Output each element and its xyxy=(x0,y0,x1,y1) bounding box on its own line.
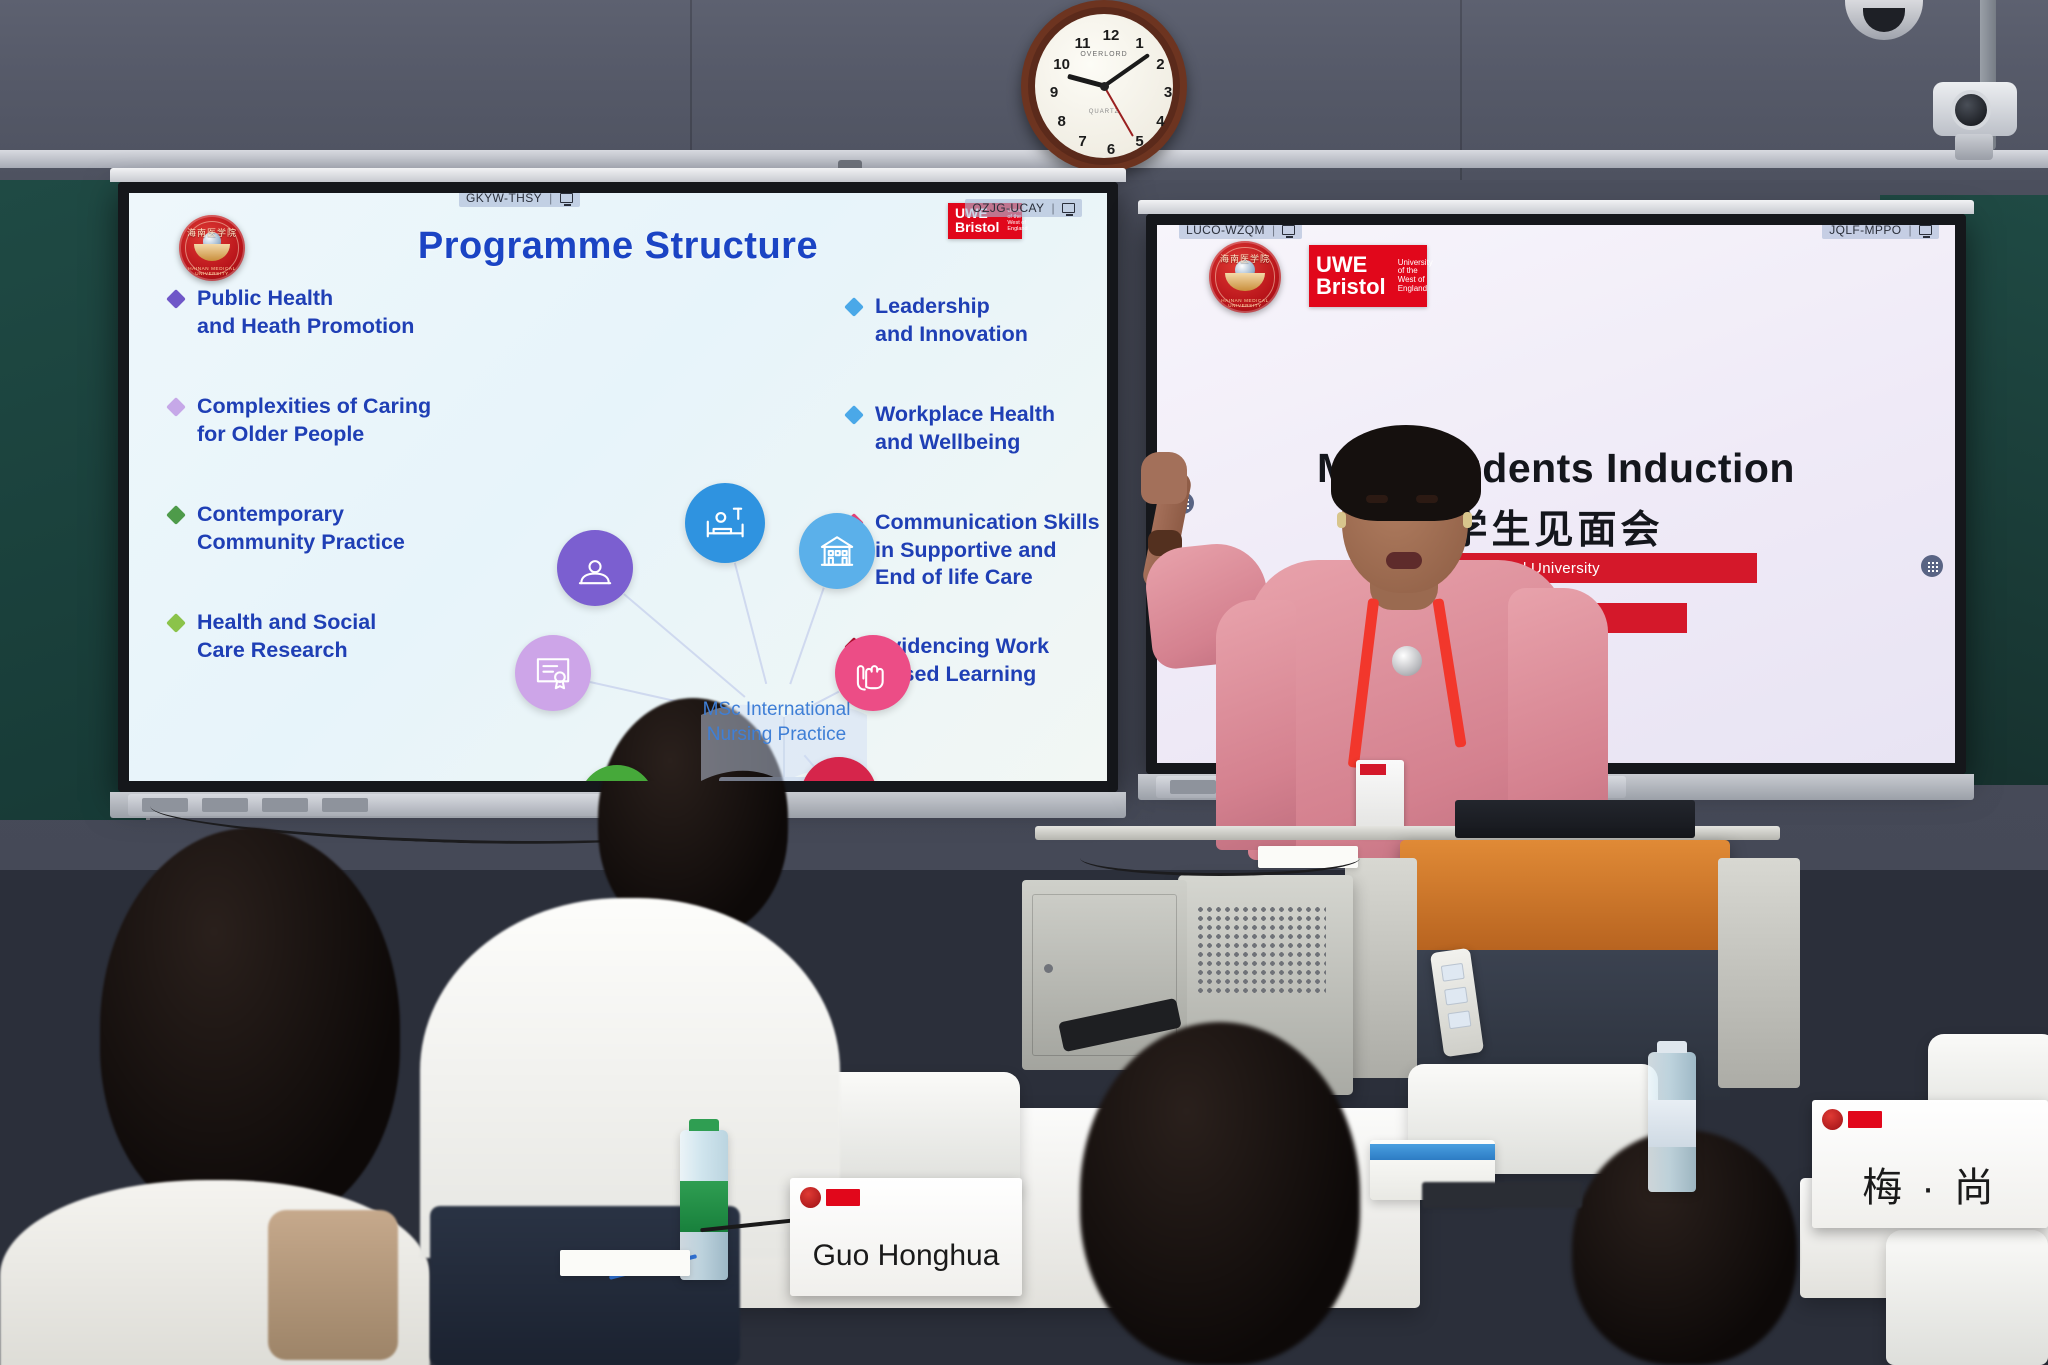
monitor-icon xyxy=(560,193,573,203)
paper-sheet xyxy=(560,1250,690,1276)
bullet-label: Health and Social Care Research xyxy=(197,609,376,664)
cabinet-knob[interactable] xyxy=(1044,964,1053,973)
uwe-logo-icon xyxy=(826,1189,860,1206)
presenter-left-sleeve xyxy=(1216,600,1296,850)
clock-numeral: 2 xyxy=(1150,56,1170,73)
watermark-chip-gkyw: GKYW-THSY | xyxy=(459,193,580,207)
clock-face: OVERLORD QUARTZ 121234567891011 xyxy=(1035,14,1173,158)
display-panel-left[interactable]: 海南医学院 HAINAN MEDICAL UNIVERSITY UWE Bris… xyxy=(118,182,1118,792)
bullet-item: Communication Skills in Supportive and E… xyxy=(847,509,1107,592)
bullet-item: Contemporary Community Practice xyxy=(169,501,469,556)
audience-shoulders xyxy=(420,898,840,1258)
diamond-bullet-icon xyxy=(166,397,186,417)
clock-hour-hand xyxy=(1067,74,1105,89)
clock-sub: QUARTZ xyxy=(1089,109,1120,115)
wall-rail xyxy=(0,150,2048,168)
bullet-label: Contemporary Community Practice xyxy=(197,501,405,556)
laptop xyxy=(1422,1182,1582,1208)
diamond-bullet-icon xyxy=(844,297,864,317)
clock-center-pin xyxy=(1100,82,1109,91)
clock-numeral: 8 xyxy=(1052,113,1072,130)
clock-numeral: 12 xyxy=(1101,27,1121,44)
page-title: Programme Structure xyxy=(129,225,1107,268)
audience-head xyxy=(1080,1022,1360,1365)
audience-head xyxy=(100,828,400,1228)
hainan-seal-icon xyxy=(1822,1109,1843,1130)
diamond-bullet-icon xyxy=(166,505,186,525)
building-icon xyxy=(799,513,875,589)
chair xyxy=(1886,1230,2048,1365)
presenter-hair xyxy=(1331,425,1481,521)
hainan-seal-icon xyxy=(800,1187,821,1208)
water-bottle xyxy=(1648,1052,1696,1192)
bullet-item: Complexities of Caring for Older People xyxy=(169,393,469,448)
hands-icon xyxy=(835,635,911,711)
ptz-camera-icon xyxy=(1929,82,2021,162)
necklace-pendant xyxy=(1392,646,1422,676)
bullet-label: Complexities of Caring for Older People xyxy=(197,393,431,448)
bullet-label: Communication Skills in Supportive and E… xyxy=(875,509,1100,592)
diamond-bullet-icon xyxy=(166,613,186,633)
bullet-item: Workplace Health and Wellbeing xyxy=(847,401,1107,456)
bullet-label: Public Health and Heath Promotion xyxy=(197,285,414,340)
bullet-label: Leadership and Innovation xyxy=(875,293,1028,348)
earring-icon xyxy=(1463,512,1472,528)
uwe-bristol-logo-right: UWE Bristol University of the West of En… xyxy=(1309,245,1427,307)
cable-run xyxy=(1080,840,1360,876)
clock-numeral: 4 xyxy=(1150,113,1170,130)
diamond-bullet-icon xyxy=(844,405,864,425)
certificate-icon xyxy=(515,635,591,711)
presenter-mouth xyxy=(1386,552,1422,569)
nameplate-mei-shang: 梅 · 尚 xyxy=(1812,1100,2048,1228)
presenter-hand xyxy=(1141,452,1187,504)
podium-wood-top xyxy=(1400,840,1730,955)
clock-numeral: 9 xyxy=(1044,84,1064,101)
panel-top-frame xyxy=(1138,200,1974,214)
nameplate-logos xyxy=(1822,1109,1882,1130)
monitor-icon xyxy=(1062,203,1075,213)
reader-icon xyxy=(557,530,633,606)
clock-numeral: 1 xyxy=(1130,35,1150,52)
uwe-logo-icon xyxy=(1848,1111,1882,1128)
bullet-label: Workplace Health and Wellbeing xyxy=(875,401,1055,456)
podium-side-panel-left xyxy=(1345,858,1417,1078)
podium-side-panel-right xyxy=(1718,858,1800,1088)
bullet-item: Health and Social Care Research xyxy=(169,609,469,664)
hainan-seal-icon: 海南医学院 HAINAN MEDICAL UNIVERSITY xyxy=(1209,241,1281,313)
handbag xyxy=(268,1210,398,1360)
clock-numeral: 11 xyxy=(1073,35,1093,52)
desk-monitor xyxy=(1455,800,1695,838)
earring-icon xyxy=(1337,512,1346,528)
monitor-icon xyxy=(1919,225,1932,235)
slide-title-cn: 学生见面会 xyxy=(1157,499,1955,555)
monitor-icon xyxy=(1282,225,1295,235)
clock-brand: OVERLORD xyxy=(1080,51,1127,58)
speaker-grille xyxy=(1196,905,1326,995)
clock-numeral: 3 xyxy=(1158,84,1178,101)
clock-numeral: 10 xyxy=(1052,56,1072,73)
presenter-eye-left xyxy=(1366,495,1388,503)
clock-numeral: 7 xyxy=(1073,133,1093,150)
nameplate-logos xyxy=(800,1187,860,1208)
badge-logo-icon xyxy=(1360,764,1386,775)
presenter-eye-right xyxy=(1416,495,1438,503)
slide-title-en: MSc Students Induction xyxy=(1157,445,1955,492)
watermark-chip-luco: LUCO-WZQM | xyxy=(1179,225,1302,239)
lecture-hall-photo: OVERLORD QUARTZ 121234567891011 海南医学院 HA… xyxy=(0,0,2048,1365)
nameplate-text: Guo Honghua xyxy=(790,1201,1022,1273)
watermark-chip-jqlf: JQLF-MPPO | xyxy=(1822,225,1939,239)
bullet-item: Leadership and Innovation xyxy=(847,293,1107,348)
clock-numeral: 6 xyxy=(1101,141,1121,158)
hospital-bed-icon xyxy=(685,483,765,563)
diamond-bullet-icon xyxy=(166,289,186,309)
nameplate-guo-honghua: Guo Honghua xyxy=(790,1178,1022,1296)
watermark-chip-ozjg: OZJG-UCAY | xyxy=(965,199,1082,217)
slide-programme-structure[interactable]: 海南医学院 HAINAN MEDICAL UNIVERSITY UWE Bris… xyxy=(129,193,1107,781)
bullet-item: Public Health and Heath Promotion xyxy=(169,285,469,340)
wall-clock: OVERLORD QUARTZ 121234567891011 xyxy=(1021,0,1187,172)
panel-top-frame xyxy=(110,168,1126,182)
app-grid-icon[interactable] xyxy=(1921,555,1943,577)
